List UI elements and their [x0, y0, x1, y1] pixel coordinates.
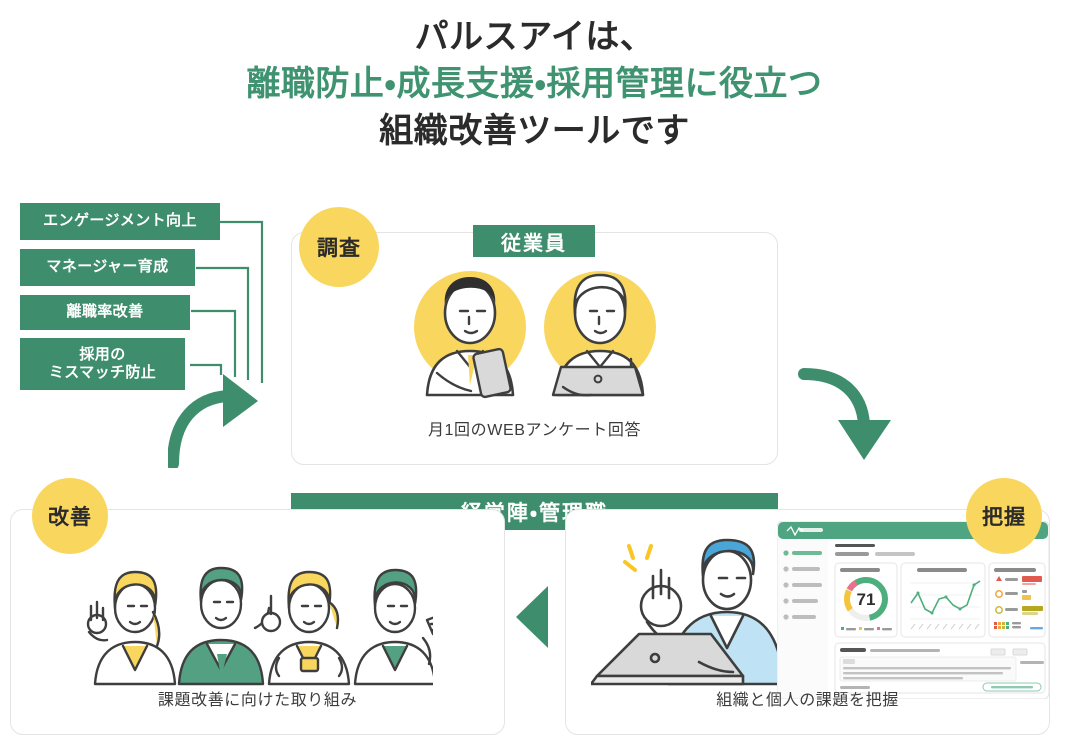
curved-arrow-up-right-icon	[168, 368, 263, 468]
triangle-arrow-left-icon	[516, 586, 550, 648]
badge-improve: 改善	[32, 478, 108, 554]
benefit-tag-turnover-rate: 離職率改善	[20, 295, 190, 330]
benefit-tag-label-line1: 採用の	[79, 346, 125, 363]
curved-arrow-down-right-icon	[796, 362, 896, 467]
badge-grasp-label: 把握	[982, 501, 1026, 531]
benefit-tag-label: マネージャー育成	[46, 258, 168, 276]
badge-survey: 調査	[299, 207, 379, 287]
badge-improve-label: 改善	[48, 501, 92, 531]
benefit-tag-label-multiline: 採用の ミスマッチ防止	[49, 346, 156, 383]
illustration-team-improvement	[83, 546, 433, 686]
headline-line-2: 離職防止・成長支援・採用管理に役立つ	[0, 61, 1069, 108]
card-grasp-caption: 組織と個人の課題を把握	[566, 686, 1049, 710]
headline-line-1: パルスアイは、	[0, 14, 1069, 61]
banner-employee: 従業員	[473, 225, 595, 257]
illustration-manager-laptop	[591, 536, 801, 691]
benefit-tag-label: エンゲージメント向上	[43, 212, 197, 230]
benefit-tag-label: 離職率改善	[66, 303, 143, 321]
card-survey-caption: 月1回のWEBアンケート回答	[292, 416, 777, 440]
card-improve-caption: 課題改善に向けた取り組み	[11, 686, 504, 710]
banner-employee-label: 従業員	[501, 227, 567, 256]
illustration-employees-survey	[385, 255, 685, 405]
page-title: パルスアイは、 離職防止・成長支援・採用管理に役立つ 組織改善ツールです	[0, 14, 1069, 155]
badge-grasp: 把握	[966, 478, 1042, 554]
benefit-tag-label-line2: ミスマッチ防止	[49, 364, 156, 381]
benefit-tag-manager-development: マネージャー育成	[20, 249, 195, 286]
headline-line-3: 組織改善ツールです	[0, 108, 1069, 155]
dashboard-score-value: 71	[857, 590, 876, 609]
badge-survey-label: 調査	[317, 232, 361, 262]
benefit-tag-hiring-mismatch: 採用の ミスマッチ防止	[20, 338, 185, 390]
